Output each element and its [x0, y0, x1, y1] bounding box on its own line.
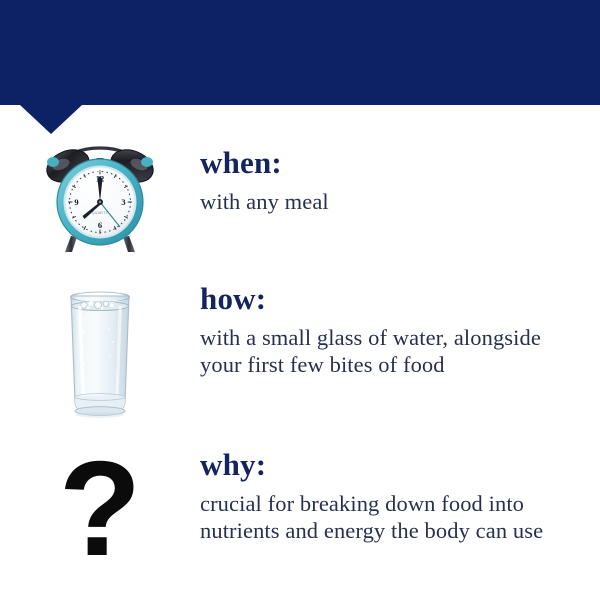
- banner-pointer-tail: [20, 105, 82, 134]
- section-why-heading: why:: [200, 448, 586, 482]
- section-how-media: [0, 272, 200, 419]
- section-how-body: with a small glass of water, alongside y…: [200, 324, 586, 378]
- water-glass-icon: [54, 284, 146, 419]
- section-when-media: 12 3 6 9 QUARTZ: [0, 128, 200, 257]
- section-how-heading: how:: [200, 282, 586, 316]
- svg-text:6: 6: [98, 220, 102, 230]
- section-why-media: ?: [0, 440, 200, 568]
- section-when-heading: when:: [200, 146, 586, 180]
- section-why-copy: why: crucial for breaking down food into…: [200, 440, 600, 544]
- section-how-copy: how: with a small glass of water, alongs…: [200, 272, 600, 378]
- header-banner: [0, 0, 600, 105]
- question-mark-icon: ?: [50, 448, 150, 568]
- section-when-body: with any meal: [200, 188, 586, 215]
- section-why-body: crucial for breaking down food into nutr…: [200, 490, 586, 544]
- section-when-copy: when: with any meal: [200, 128, 600, 215]
- alarm-clock-icon: 12 3 6 9 QUARTZ: [35, 132, 165, 257]
- section-how: how: with a small glass of water, alongs…: [0, 272, 600, 419]
- svg-text:QUARTZ: QUARTZ: [92, 211, 108, 215]
- svg-text:3: 3: [121, 197, 125, 207]
- question-mark-glyph: ?: [59, 456, 141, 561]
- svg-text:9: 9: [74, 197, 78, 207]
- section-when: 12 3 6 9 QUARTZ when: with any meal: [0, 128, 600, 257]
- section-why: ? why: crucial for breaking down food in…: [0, 440, 600, 568]
